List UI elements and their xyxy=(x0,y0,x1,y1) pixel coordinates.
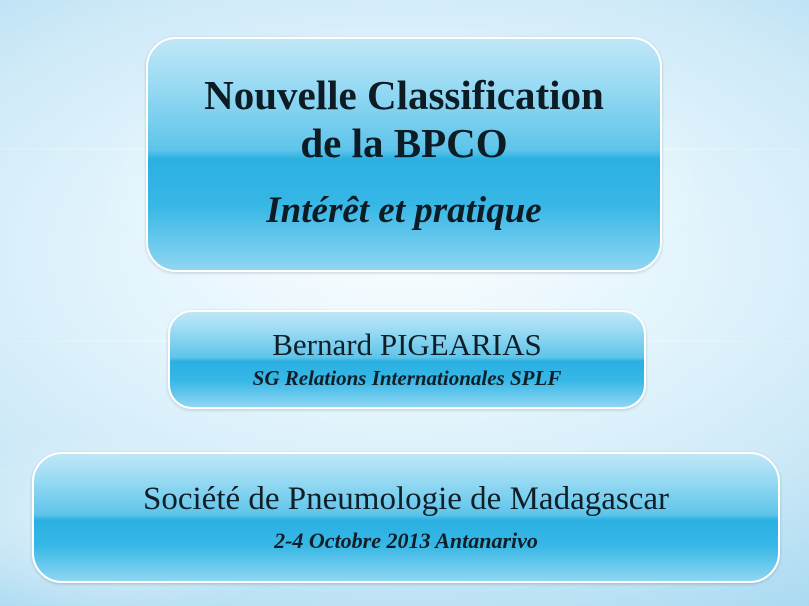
title-line-1: Nouvelle Classification xyxy=(166,71,642,119)
title-subtitle: Intérêt et pratique xyxy=(166,189,642,232)
venue-box: Société de Pneumologie de Madagascar 2-4… xyxy=(32,452,780,583)
presentation-slide: Nouvelle Classification de la BPCO Intér… xyxy=(0,0,809,606)
author-name: Bernard PIGEARIAS xyxy=(186,328,628,363)
venue-date-place: 2-4 Octobre 2013 Antanarivo xyxy=(50,528,762,554)
title-box: Nouvelle Classification de la BPCO Intér… xyxy=(146,37,662,272)
venue-organization: Société de Pneumologie de Madagascar xyxy=(50,481,762,518)
author-role: SG Relations Internationales SPLF xyxy=(186,366,628,391)
title-line-2: de la BPCO xyxy=(166,119,642,167)
author-box: Bernard PIGEARIAS SG Relations Internati… xyxy=(168,310,646,409)
